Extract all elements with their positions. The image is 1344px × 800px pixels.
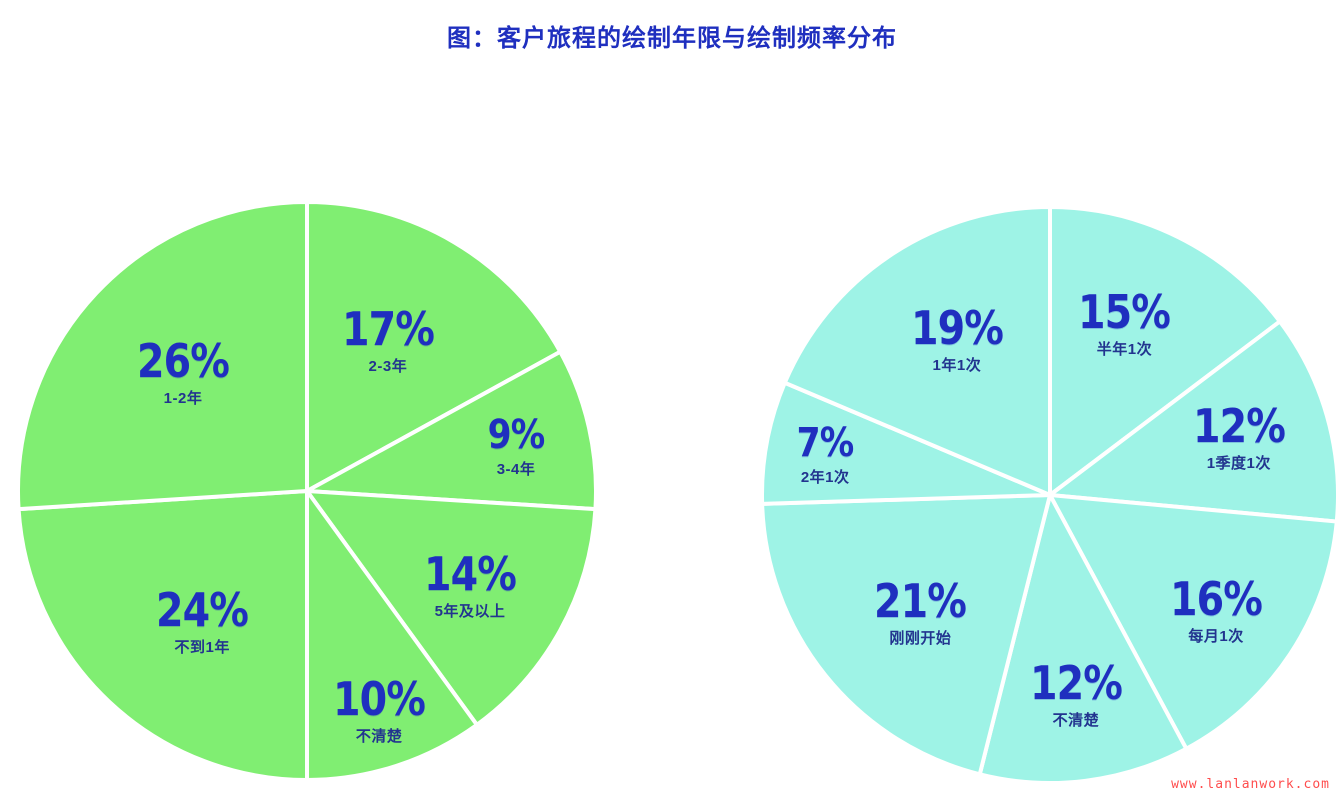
pie-slice bbox=[19, 491, 307, 780]
charts-stage: 17%2-3年9%3-4年14%5年及以上10%不清楚24%不到1年26%1-2… bbox=[0, 0, 1344, 800]
pie-chart-mapping-years bbox=[4, 188, 610, 794]
site-watermark: www.lanlanwork.com bbox=[1171, 777, 1330, 792]
pie-left-svg bbox=[4, 188, 610, 794]
pie-chart-mapping-frequency bbox=[748, 193, 1344, 797]
pie-right-svg bbox=[748, 193, 1344, 797]
pie-slice bbox=[18, 202, 307, 509]
